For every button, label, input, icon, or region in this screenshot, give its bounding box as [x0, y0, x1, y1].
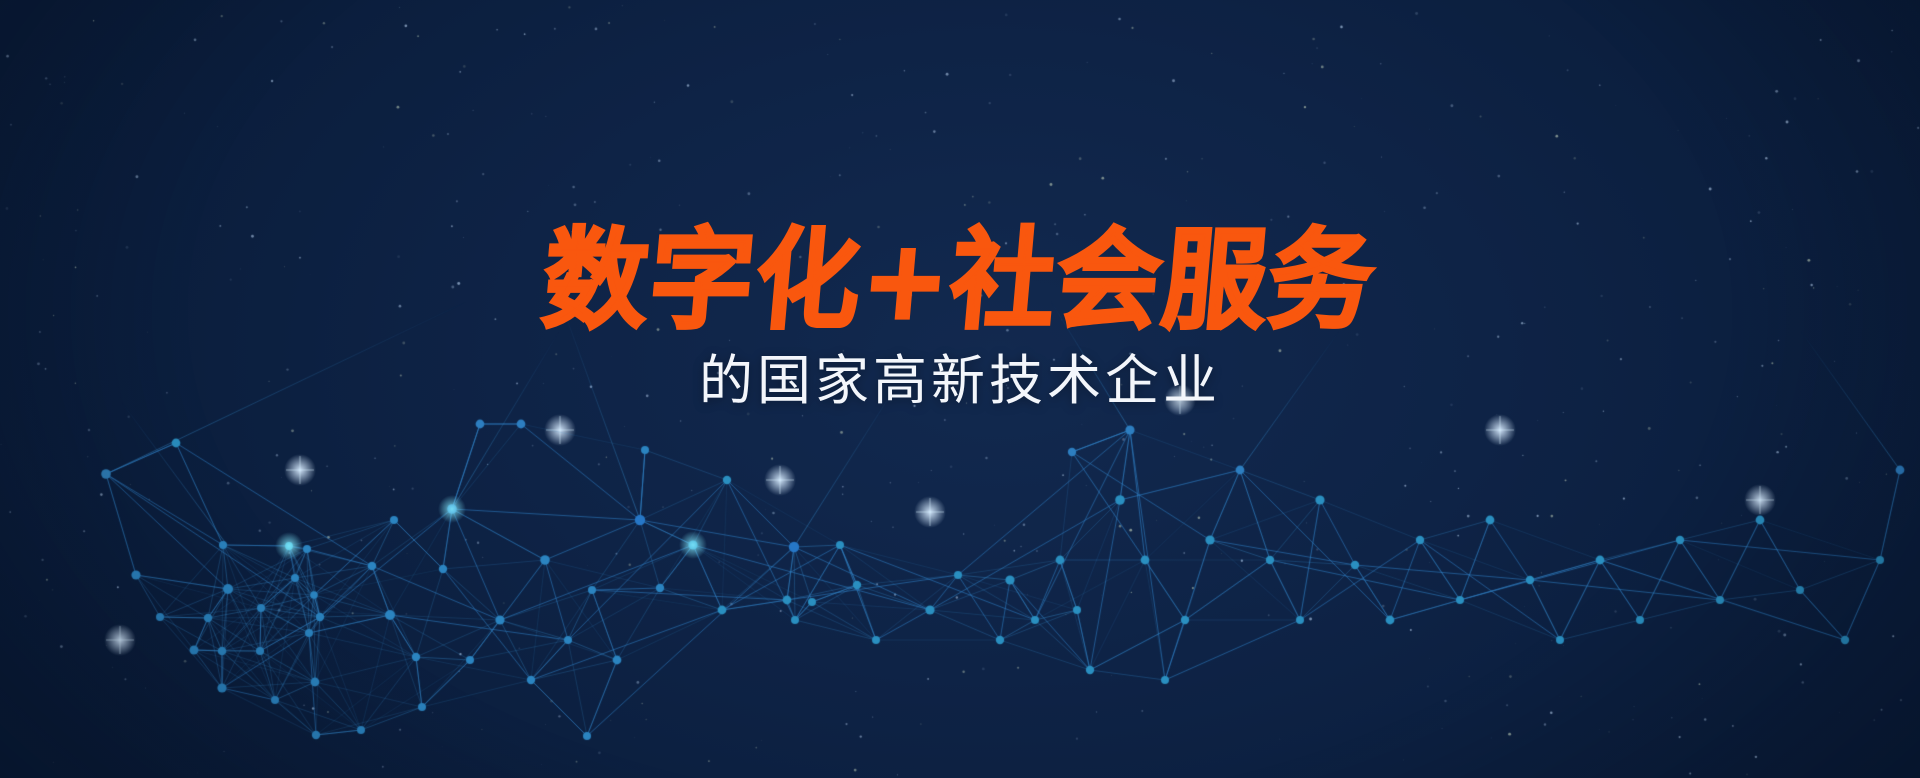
hero-banner: 数字化+社会服务 的国家高新技术企业 — [0, 0, 1920, 778]
network-mesh-canvas — [0, 0, 1920, 778]
